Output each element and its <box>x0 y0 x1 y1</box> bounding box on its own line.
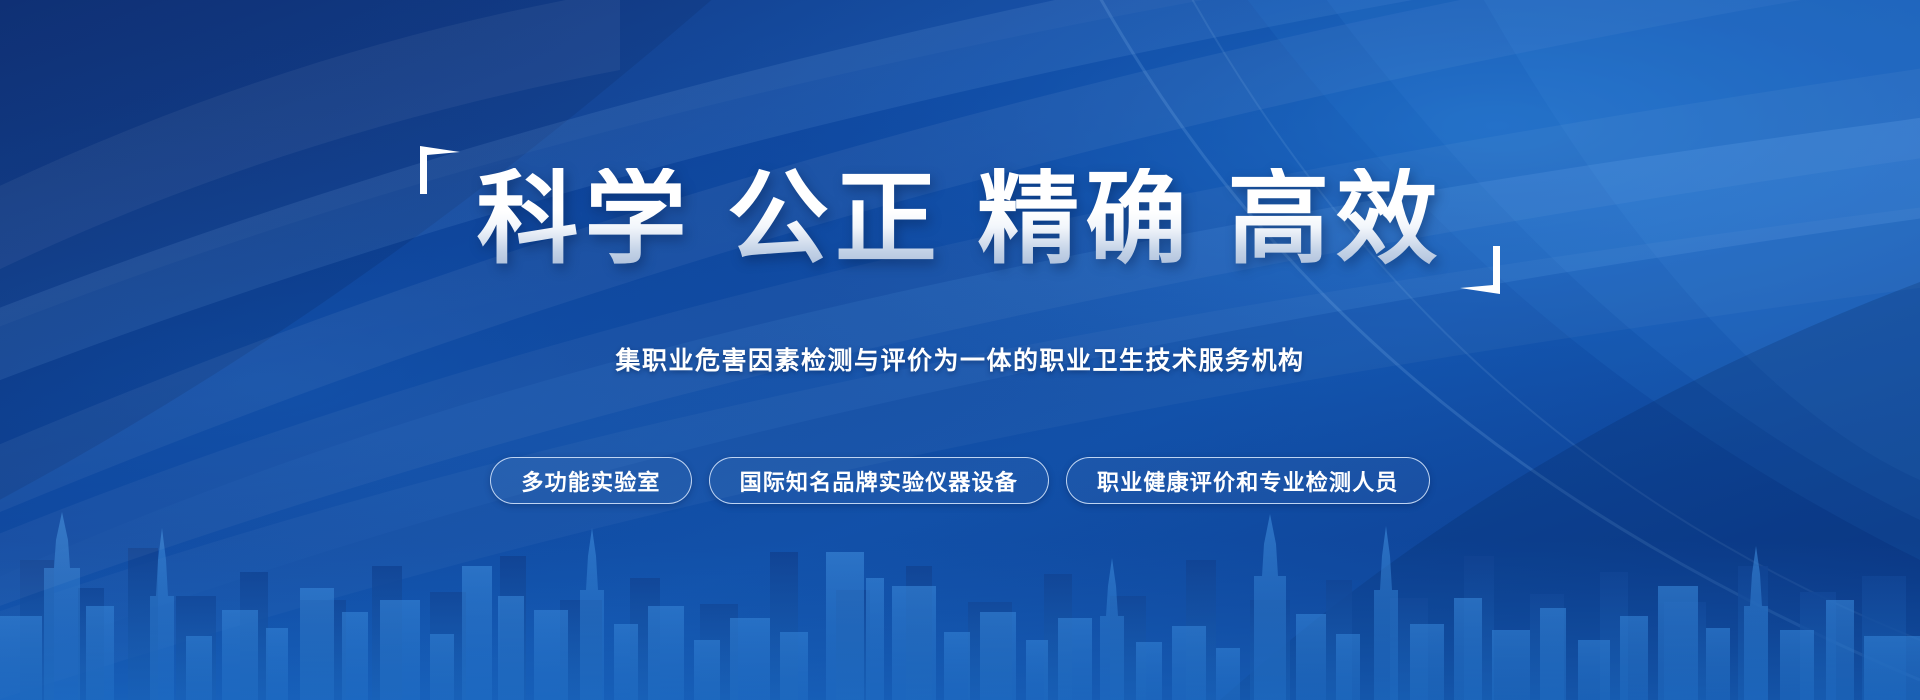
feature-tag-equipment[interactable]: 国际知名品牌实验仪器设备 <box>709 457 1049 504</box>
page-title: 科学 公正 精确 高效 <box>476 168 1443 270</box>
headline-block: 科学 公正 精确 高效 <box>412 168 1507 270</box>
hero-banner: 科学 公正 精确 高效 集职业危害因素检测与评价为一体的职业卫生技术服务机构 多… <box>0 0 1920 700</box>
feature-tag-list: 多功能实验室 国际知名品牌实验仪器设备 职业健康评价和专业检测人员 <box>0 457 1920 504</box>
headline-wrapper: 科学 公正 精确 高效 <box>0 168 1920 270</box>
corner-bracket-open-icon <box>418 144 462 196</box>
banner-content: 科学 公正 精确 高效 集职业危害因素检测与评价为一体的职业卫生技术服务机构 多… <box>0 0 1920 700</box>
feature-tag-lab[interactable]: 多功能实验室 <box>490 457 691 504</box>
corner-bracket-close-icon <box>1458 244 1502 296</box>
banner-subtitle: 集职业危害因素检测与评价为一体的职业卫生技术服务机构 <box>0 341 1920 377</box>
feature-tag-staff[interactable]: 职业健康评价和专业检测人员 <box>1066 457 1430 504</box>
